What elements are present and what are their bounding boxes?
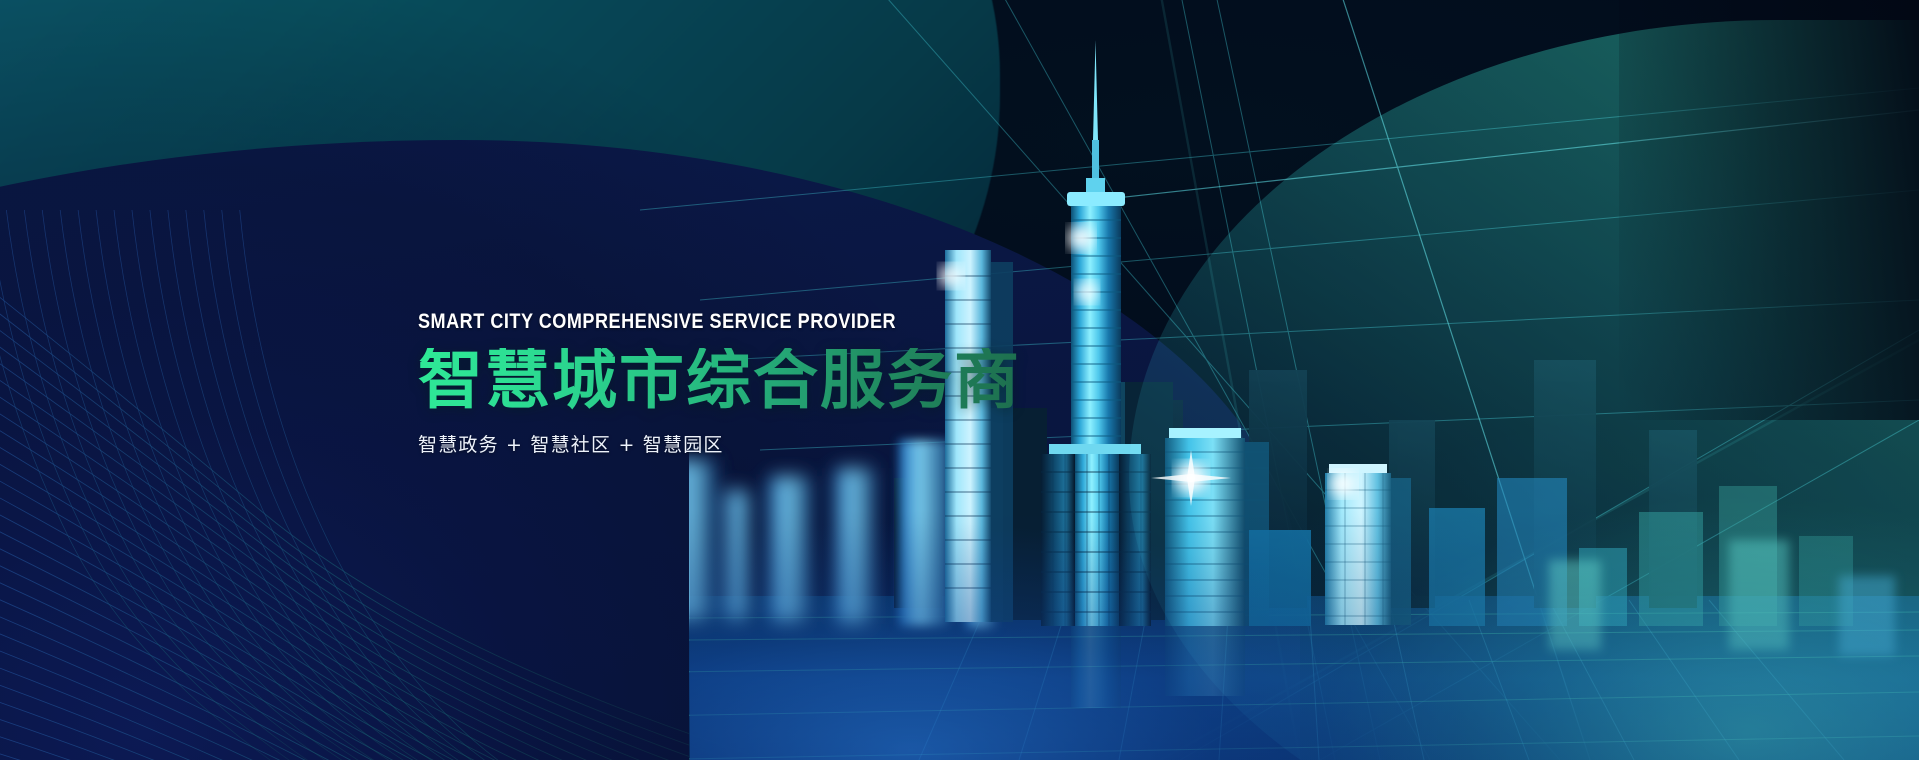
hero-text-block: SMART CITY COMPREHENSIVE SERVICE PROVIDE… [418, 310, 1021, 457]
hero-banner: SMART CITY COMPREHENSIVE SERVICE PROVIDE… [0, 0, 1919, 760]
hero-headline: 智慧城市综合服务商 [418, 348, 1021, 414]
hero-eyebrow: SMART CITY COMPREHENSIVE SERVICE PROVIDE… [418, 310, 937, 334]
hero-subhead: 智慧政务 + 智慧社区 + 智慧园区 [418, 430, 1021, 457]
